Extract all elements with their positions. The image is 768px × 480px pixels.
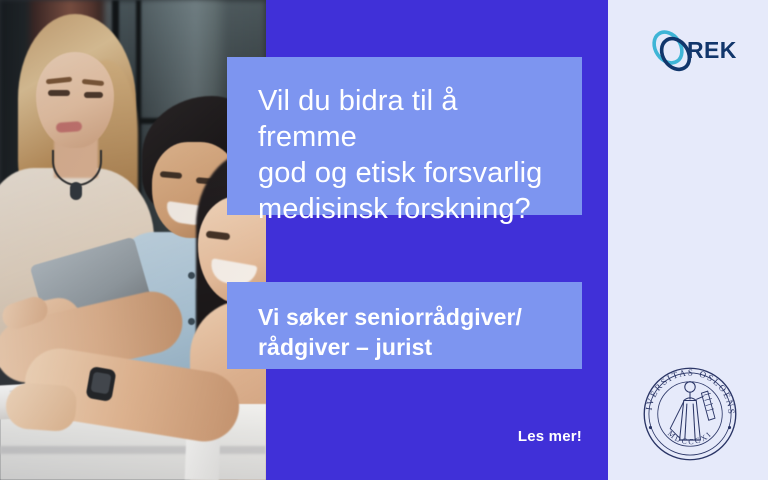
job-title-box: Vi søker seniorrådgiver/ rådgiver – juri… — [227, 282, 582, 369]
headline-line-3: medisinsk forskning? — [258, 191, 552, 227]
rek-wordmark: REK — [687, 37, 737, 64]
person-one-pendant — [70, 182, 82, 200]
desk-edge — [0, 446, 266, 454]
job-title-line-2: rådgiver – jurist — [258, 332, 552, 362]
headline-line-2: god og etisk forsvarlig — [258, 155, 552, 191]
person-one-face — [36, 52, 114, 148]
person-three-hand — [4, 382, 77, 433]
rek-logo: REK — [648, 25, 740, 77]
headline-line-1: Vil du bidra til å fremme — [258, 83, 552, 155]
recruitment-banner: Vil du bidra til å fremme god og etisk f… — [0, 0, 768, 480]
person-one-eye — [48, 90, 70, 96]
uio-seal-dot — [649, 426, 652, 429]
smartwatch-screen — [90, 372, 111, 395]
person-one-eye — [84, 92, 103, 98]
job-title-line-1: Vi søker seniorrådgiver/ — [258, 302, 552, 332]
uio-seal-logo: UNIVERSITAS OSLOENSIS MDCCCXI — [638, 362, 742, 466]
person-two-shirt-button — [188, 318, 195, 325]
person-one-lips — [56, 121, 83, 133]
person-two-shirt-button — [188, 272, 195, 279]
headline-box: Vil du bidra til å fremme god og etisk f… — [227, 57, 582, 215]
read-more-link[interactable]: Les mer! — [227, 428, 589, 445]
uio-seal-dot — [728, 426, 731, 429]
